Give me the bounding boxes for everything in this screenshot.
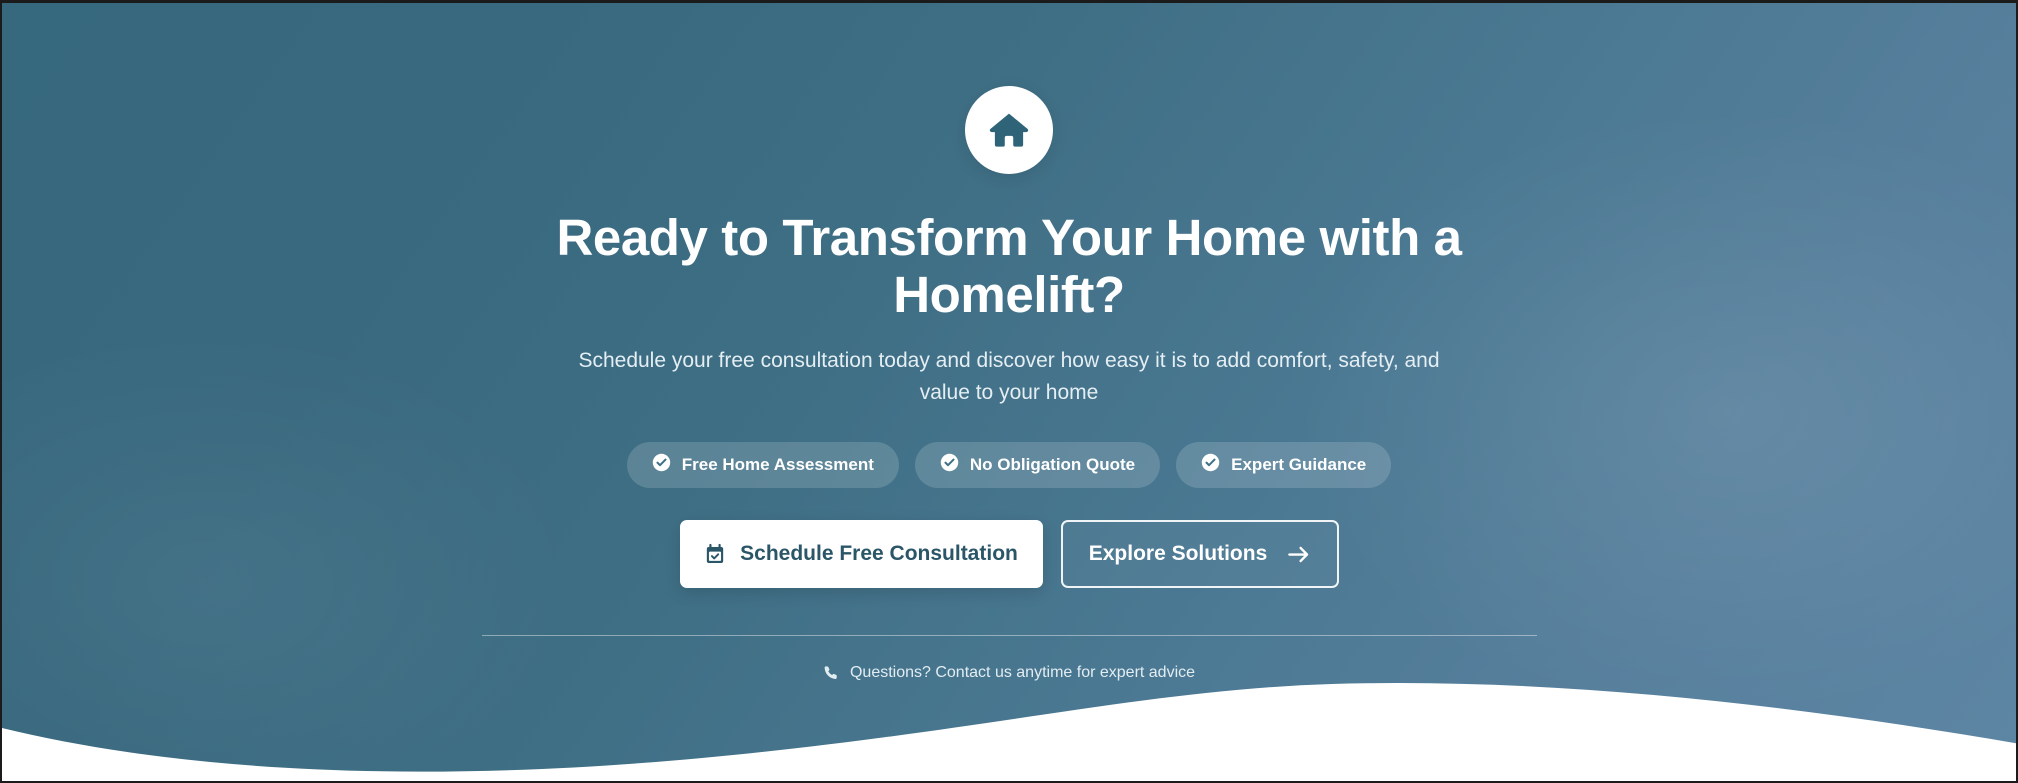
check-circle-icon <box>652 453 671 477</box>
page-title: Ready to Transform Your Home with a Home… <box>539 209 1479 323</box>
schedule-free-consultation-label: Schedule Free Consultation <box>740 542 1018 566</box>
feature-pill-free-home-assessment[interactable]: Free Home Assessment <box>627 442 899 488</box>
cta-content: Ready to Transform Your Home with a Home… <box>2 3 2016 682</box>
feature-pill-expert-guidance[interactable]: Expert Guidance <box>1176 442 1391 488</box>
explore-solutions-label: Explore Solutions <box>1089 542 1268 566</box>
home-badge <box>965 86 1053 174</box>
bottom-wave-decoration <box>2 662 2018 782</box>
footer-divider <box>482 635 1537 636</box>
schedule-free-consultation-button[interactable]: Schedule Free Consultation <box>680 520 1043 588</box>
feature-pill-row: Free Home Assessment No Obligation Quote <box>627 442 1392 488</box>
feature-pill-label: Free Home Assessment <box>682 455 874 475</box>
feature-pill-label: Expert Guidance <box>1231 455 1366 475</box>
cta-button-row: Schedule Free Consultation Explore Solut… <box>680 520 1339 588</box>
check-circle-icon <box>1201 453 1220 477</box>
feature-pill-label: No Obligation Quote <box>970 455 1135 475</box>
home-icon <box>987 108 1031 152</box>
explore-solutions-button[interactable]: Explore Solutions <box>1061 520 1339 588</box>
check-circle-icon <box>940 453 959 477</box>
calendar-check-icon <box>704 543 726 565</box>
feature-pill-no-obligation-quote[interactable]: No Obligation Quote <box>915 442 1160 488</box>
subheadline: Schedule your free consultation today an… <box>569 345 1449 409</box>
homelift-cta-section: Ready to Transform Your Home with a Home… <box>0 0 2018 783</box>
arrow-right-icon <box>1287 545 1310 564</box>
